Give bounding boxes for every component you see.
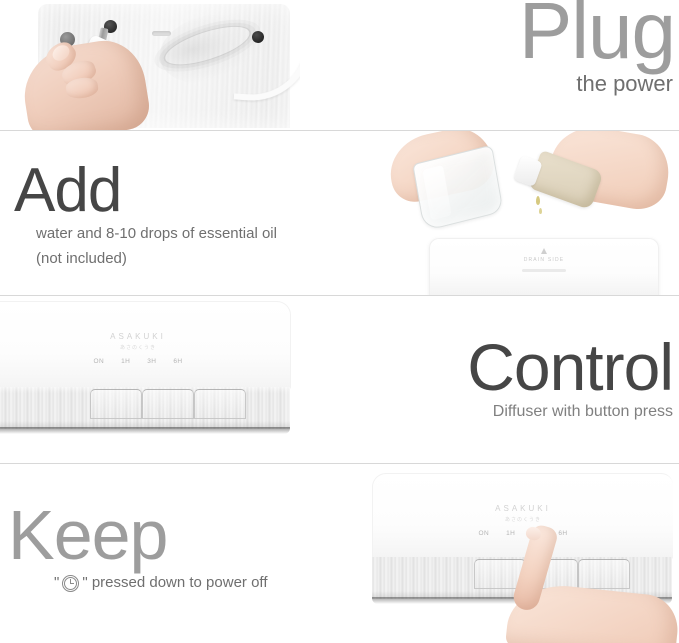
section-divider	[0, 130, 679, 131]
step-subtitle-keep: " " pressed down to power off	[54, 573, 267, 593]
brand-name-japanese: あさのくうき	[373, 516, 673, 523]
control-panel-labels: ON 1H 3H 6H	[0, 358, 290, 365]
diffuser-body: ASAKUKI あさのくうき ON 1H 3H 6H	[0, 301, 291, 389]
drain-arrow-icon	[541, 248, 547, 254]
step-text-control: Control Diffuser with button press	[467, 337, 673, 423]
physical-button[interactable]	[194, 389, 246, 419]
section-divider	[0, 295, 679, 296]
panel-label-1h[interactable]: 1H	[506, 530, 515, 537]
physical-button[interactable]	[90, 389, 142, 419]
power-cable	[234, 32, 300, 105]
step-subtitle-add-note: (not included)	[36, 249, 277, 269]
brand-name: ASAKUKI	[0, 332, 290, 341]
photo-keep-button-pressed: ASAKUKI あさのくうき ON 1H 3H 6H	[358, 467, 679, 643]
panel-label-on[interactable]: ON	[479, 530, 490, 537]
physical-button[interactable]	[142, 389, 194, 419]
wood-grain-base	[0, 387, 290, 429]
step-band-control: ASAKUKI あさのくうき ON 1H 3H 6H Control Diffu…	[0, 295, 679, 463]
panel-label-on[interactable]: ON	[94, 358, 105, 365]
step-headline-keep: Keep	[8, 503, 267, 567]
diffuser-body: ASAKUKI あさのくうき ON 1H 3H 6H	[372, 473, 673, 559]
base-shadow	[0, 427, 290, 434]
panel-label-6h[interactable]: 6H	[173, 358, 182, 365]
photo-plug-the-power	[0, 0, 300, 130]
step-headline-add: Add	[14, 162, 277, 219]
quote-open: "	[54, 573, 59, 593]
step-subtitle-add: water and 8-10 drops of essential oil	[36, 224, 277, 244]
step-headline-plug: Plug	[519, 0, 675, 68]
drain-side-label: DRAIN SIDE	[430, 257, 658, 263]
photo-control-diffuser: ASAKUKI あさのくうき ON 1H 3H 6H	[0, 297, 312, 459]
max-water-line	[522, 269, 566, 272]
brand-name: ASAKUKI	[373, 504, 673, 513]
step-band-add: DRAIN SIDE Add water and 8-10 drops of e…	[0, 130, 679, 295]
oil-droplet	[539, 208, 542, 214]
section-divider	[0, 463, 679, 464]
step-text-keep: Keep " " pressed down to power off	[8, 503, 267, 593]
brand-name-japanese: あさのくうき	[0, 344, 290, 351]
keep-instruction-text: " pressed down to power off	[82, 573, 267, 593]
step-text-add: Add water and 8-10 drops of essential oi…	[14, 162, 277, 268]
panel-label-1h[interactable]: 1H	[121, 358, 130, 365]
diffuser-water-tank: DRAIN SIDE	[429, 238, 659, 295]
step-band-plug: Plug the power	[0, 0, 679, 130]
step-text-plug: Plug the power	[519, 0, 675, 98]
panel-label-3h[interactable]: 3H	[147, 358, 156, 365]
vent-slot	[152, 31, 171, 36]
physical-button-pressed[interactable]	[578, 559, 630, 589]
photo-add-water-and-oil: DRAIN SIDE	[383, 130, 679, 295]
panel-label-6h[interactable]: 6H	[558, 530, 567, 537]
infographic-sheet: Plug the power DRAIN SIDE Add water and …	[0, 0, 679, 643]
clock-icon	[62, 575, 79, 592]
step-headline-control: Control	[467, 337, 673, 398]
step-subtitle-control: Diffuser with button press	[467, 402, 673, 423]
oil-droplet	[536, 196, 540, 205]
control-panel-labels: ON 1H 3H 6H	[373, 530, 673, 537]
step-band-keep: ASAKUKI あさのくうき ON 1H 3H 6H Keep	[0, 463, 679, 643]
